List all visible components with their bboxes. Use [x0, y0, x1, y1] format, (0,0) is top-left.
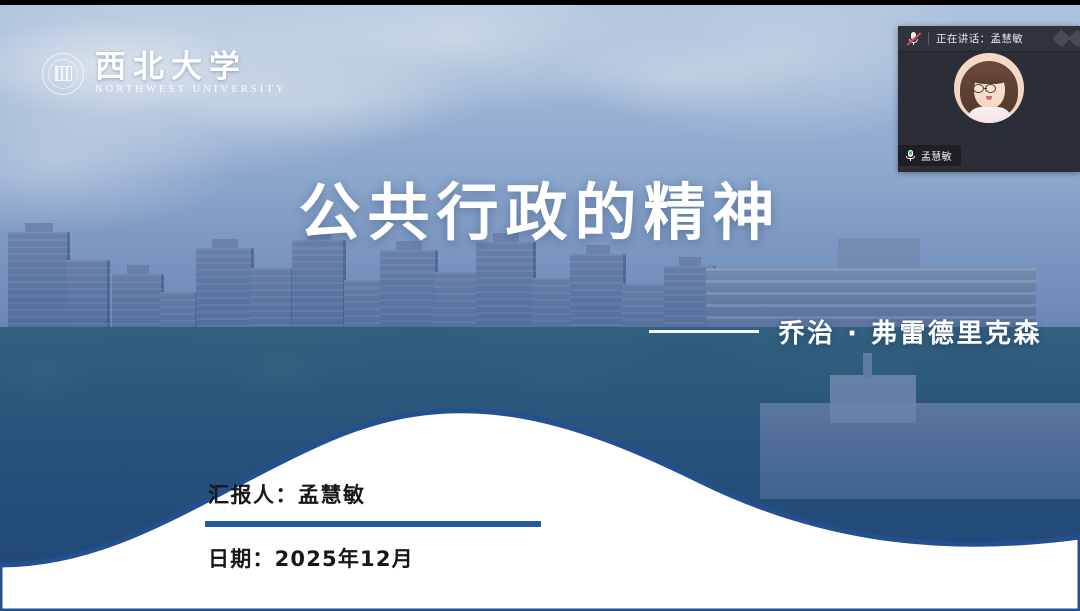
- logo-name-cn: 西北大学: [95, 52, 287, 83]
- university-logo: 西北大学 NORTHWEST UNIVERSITY: [42, 52, 287, 95]
- date-label: 日期：2025年12月: [208, 543, 414, 573]
- diamond-controls-icon[interactable]: [1055, 32, 1080, 45]
- slide-title: 公共行政的精神: [0, 178, 1080, 247]
- footer-divider-rule: [205, 521, 541, 527]
- video-conference-panel[interactable]: 正在讲话：孟慧敏: [898, 26, 1080, 172]
- logo-name-en: NORTHWEST UNIVERSITY: [95, 84, 287, 95]
- university-seal-icon: [42, 53, 84, 95]
- presenter-label: 汇报人：孟慧敏: [208, 479, 366, 509]
- participant-name-badge: 孟慧敏: [898, 145, 961, 166]
- microphone-active-icon[interactable]: [905, 150, 916, 162]
- video-panel-body: 孟慧敏: [898, 52, 1080, 172]
- author-attribution: 乔治 · 弗雷德里克森: [649, 313, 1042, 350]
- participant-name: 孟慧敏: [921, 148, 952, 163]
- header-divider: [928, 32, 929, 45]
- video-panel-header: 正在讲话：孟慧敏: [898, 26, 1080, 52]
- user-avatar: [954, 53, 1024, 123]
- decorative-wave-shape: [0, 351, 1080, 611]
- screen: 西北大学 NORTHWEST UNIVERSITY 公共行政的精神 乔治 · 弗…: [0, 0, 1080, 611]
- letterbox-bar-top: [0, 0, 1080, 5]
- speaking-status-label: 正在讲话：孟慧敏: [936, 31, 1023, 46]
- author-name: 乔治 · 弗雷德里克森: [779, 313, 1042, 350]
- author-dash-rule: [649, 330, 759, 333]
- microphone-muted-icon[interactable]: [906, 31, 921, 46]
